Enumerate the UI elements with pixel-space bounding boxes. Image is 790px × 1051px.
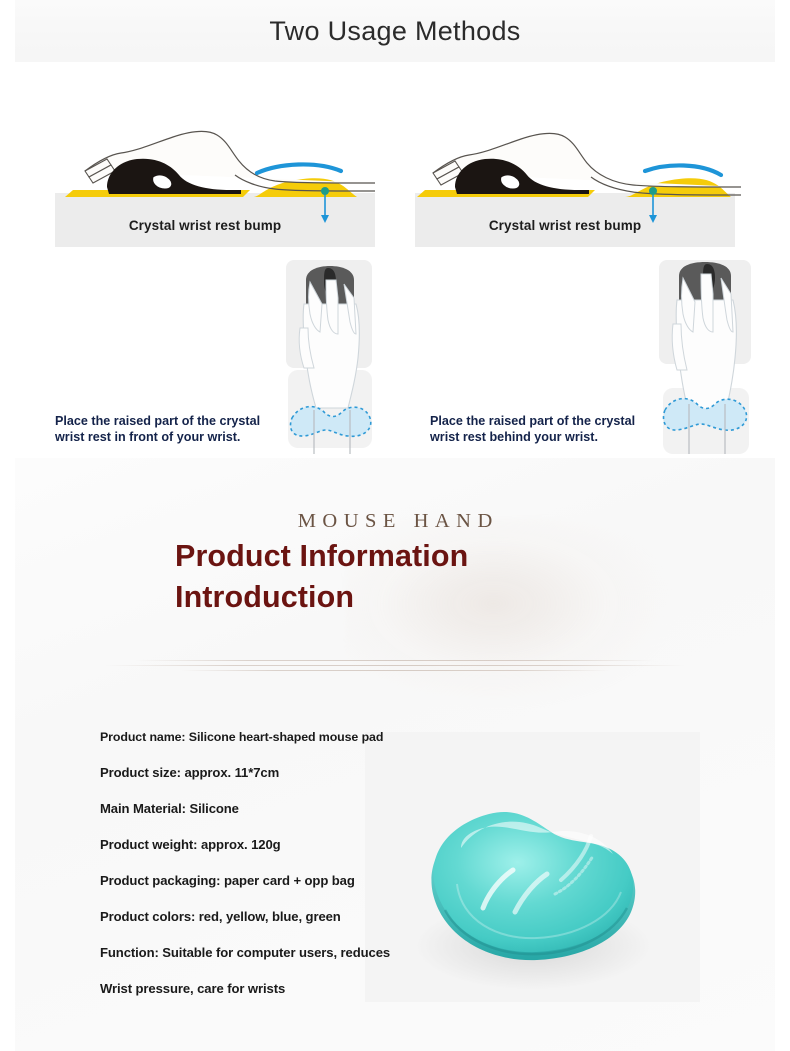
bump-marker-dot: [321, 187, 329, 195]
top-down-illustration-behind: [645, 258, 765, 456]
spec-item: Product weight: approx. 120g: [100, 837, 440, 852]
usage-method-panel-front: Crystal wrist rest bump: [45, 95, 385, 247]
divider-line-1: [135, 660, 655, 661]
usage-method-panel-behind: Crystal wrist rest bump: [405, 95, 745, 247]
top-down-illustration-front: [270, 258, 390, 456]
usage-detail-panel-behind: Place the raised part of the crystal wri…: [420, 258, 765, 456]
page-title: Two Usage Methods: [0, 0, 790, 62]
side-view-caption: Crystal wrist rest bump: [405, 218, 725, 233]
divider-line-2: [105, 665, 685, 666]
section-headline: Product Information Introduction: [175, 536, 655, 618]
brand-name: MOUSE HAND: [15, 510, 775, 533]
bump-accent-arc: [645, 165, 721, 175]
top-down-caption: Place the raised part of the crystal wri…: [430, 413, 662, 446]
spec-item: Product name: Silicone heart-shaped mous…: [100, 730, 440, 744]
spec-item: Product size: approx. 11*7cm: [100, 765, 440, 780]
product-information-section: MOUSE HAND Product Information Introduct…: [15, 458, 775, 1051]
spec-item: Function: Suitable for computer users, r…: [100, 945, 440, 960]
divider-line-3: [180, 670, 610, 671]
bump-accent-arc: [257, 164, 341, 173]
spec-item: Main Material: Silicone: [100, 801, 440, 816]
decorative-divider-group: [15, 656, 775, 675]
spec-item: Wrist pressure, care for wrists: [100, 981, 440, 996]
usage-detail-panel-front: Place the raised part of the crystal wri…: [45, 258, 390, 456]
product-spec-list: Product name: Silicone heart-shaped mous…: [100, 730, 440, 1017]
side-view-caption: Crystal wrist rest bump: [45, 218, 365, 233]
bump-marker-dot: [649, 187, 657, 195]
top-down-caption: Place the raised part of the crystal wri…: [55, 413, 287, 446]
spec-item: Product packaging: paper card + opp bag: [100, 873, 440, 888]
spec-item: Product colors: red, yellow, blue, green: [100, 909, 440, 924]
